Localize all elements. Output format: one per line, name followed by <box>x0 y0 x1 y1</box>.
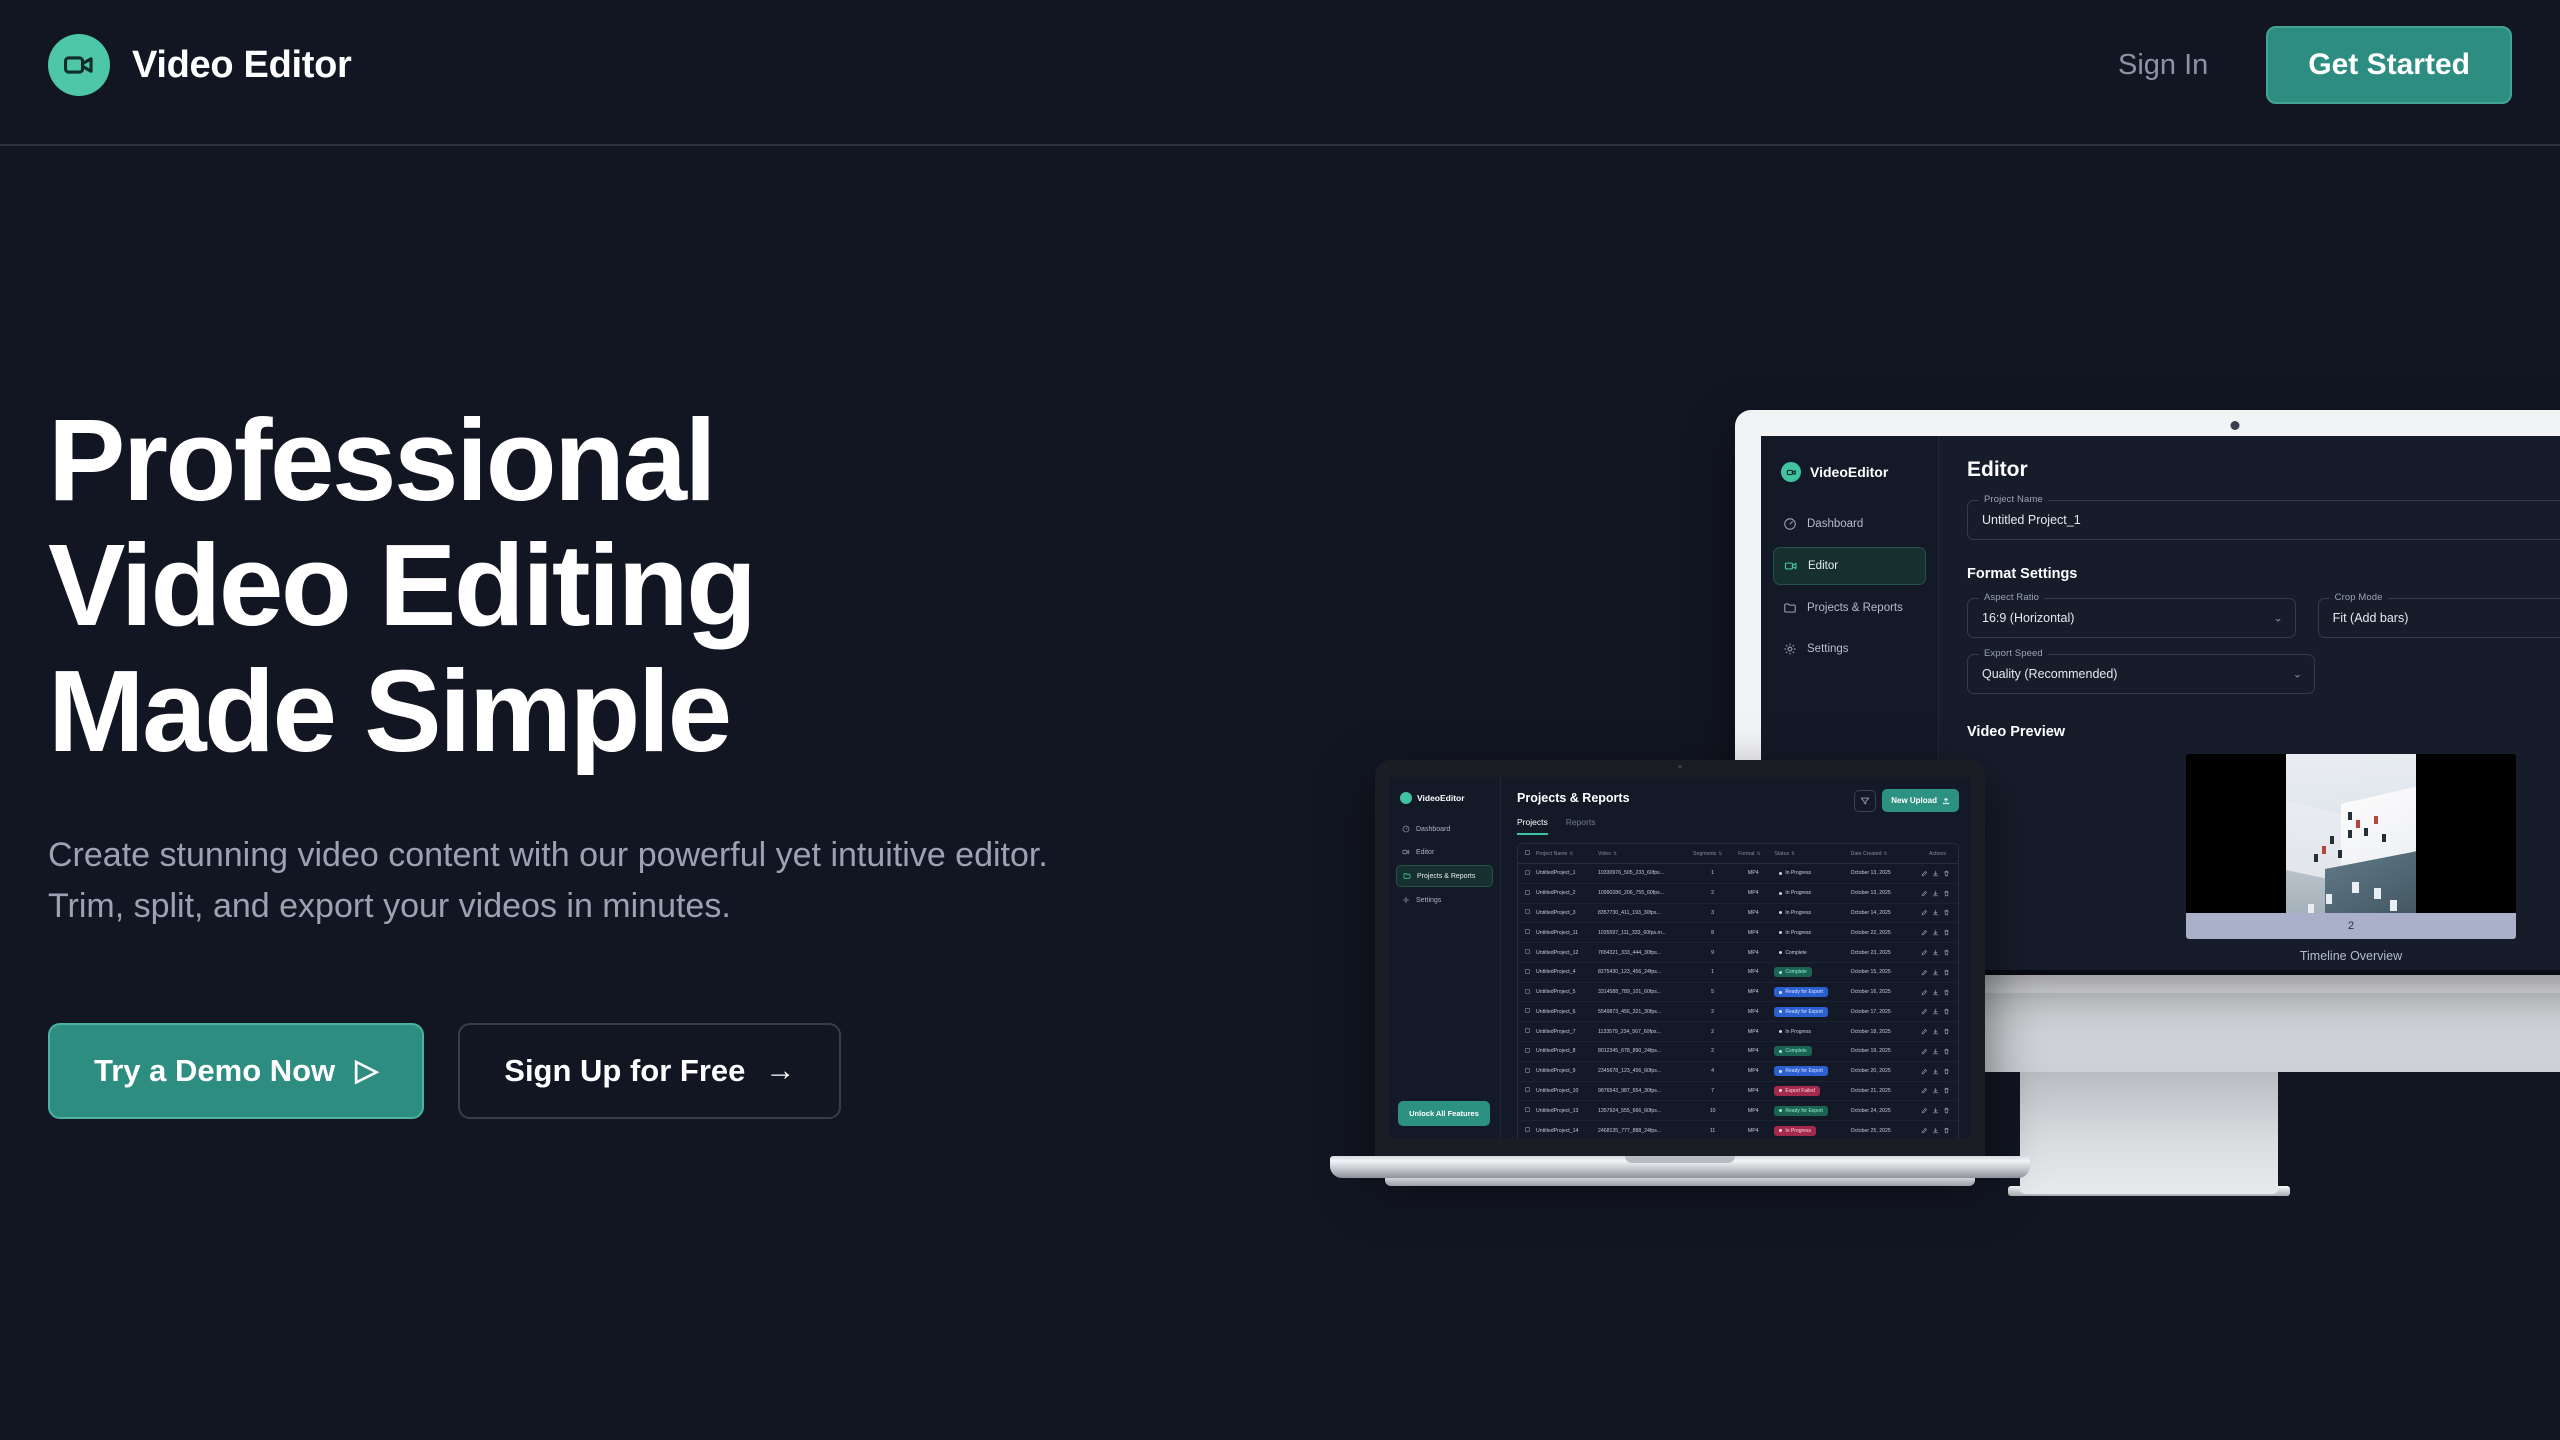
status-badge: Complete <box>1774 948 1811 958</box>
product-mockup: VideoEditor Dashboard <box>1330 380 2560 1300</box>
cell-format: MP4 <box>1735 903 1771 923</box>
new-upload-button[interactable]: New Upload <box>1882 789 1959 812</box>
status-badge: Complete <box>1774 1046 1811 1056</box>
upload-icon <box>1942 797 1950 805</box>
sidebar-label: Settings <box>1807 643 1849 655</box>
new-upload-label: New Upload <box>1891 796 1937 805</box>
cell-video: 8357730_411_193_30fps... <box>1595 903 1690 923</box>
play-icon: ▷ <box>355 1056 378 1086</box>
sort-icon: ⇅ <box>1569 851 1573 856</box>
download-icon[interactable] <box>1932 909 1939 916</box>
cell-date-created: October 15, 2025 <box>1848 962 1907 982</box>
table-row[interactable]: UntitledProject_109876543_987_654_30fps.… <box>1518 1081 1958 1101</box>
landing-page: Video Editor Sign In Get Started Profess… <box>0 0 2560 1440</box>
cell-actions <box>1907 982 1958 1002</box>
cell-format: MP4 <box>1735 1061 1771 1081</box>
cell-date-created: October 16, 2025 <box>1848 982 1907 1002</box>
page-title: Professional Video Editing Made Simple <box>48 398 1048 774</box>
table-row[interactable]: UntitledProject_71133579_234_567_60fps..… <box>1518 1022 1958 1042</box>
cell-segments: 10 <box>1690 1101 1735 1121</box>
delete-icon[interactable] <box>1943 969 1950 976</box>
sort-icon: ⇅ <box>1718 851 1722 856</box>
cell-format: MP4 <box>1735 864 1771 884</box>
edit-icon[interactable] <box>1921 890 1928 897</box>
sidebar-label: Projects & Reports <box>1807 602 1903 614</box>
table-row[interactable]: UntitledProject_131357924_555_666_60fps.… <box>1518 1101 1958 1121</box>
cell-project-name: UntitledProject_14 <box>1533 1121 1595 1138</box>
edit-icon[interactable] <box>1921 929 1928 936</box>
row-checkbox[interactable] <box>1518 1121 1533 1138</box>
delete-icon[interactable] <box>1943 870 1950 877</box>
cell-video: 10990286_206_755_60fps... <box>1595 883 1690 903</box>
edit-icon[interactable] <box>1921 1127 1928 1134</box>
projects-toolbar: New Upload <box>1854 789 1959 812</box>
edit-icon[interactable] <box>1921 1087 1928 1094</box>
tab-reports[interactable]: Reports <box>1566 817 1596 835</box>
cell-date-created: October 25, 2025 <box>1848 1121 1907 1138</box>
cell-status: In Progress <box>1771 923 1847 943</box>
cell-segments: 2 <box>1690 1022 1735 1042</box>
download-icon[interactable] <box>1932 929 1939 936</box>
cell-segments: 1 <box>1690 962 1735 982</box>
cell-date-created: October 21, 2025 <box>1848 1081 1907 1101</box>
table-row[interactable]: UntitledProject_48275430_123_456_24fps..… <box>1518 962 1958 982</box>
laptop-device: VideoEditor Dashboard <box>1330 760 2030 1205</box>
status-badge: In Progress <box>1774 888 1816 898</box>
col-segments[interactable]: Segments⇅ <box>1690 844 1735 864</box>
row-checkbox[interactable] <box>1518 1042 1533 1062</box>
checkbox-icon[interactable] <box>1525 1008 1530 1013</box>
edit-icon[interactable] <box>1921 870 1928 877</box>
cell-actions <box>1907 1121 1958 1138</box>
gauge-icon <box>1402 825 1410 833</box>
laptop-lid: VideoEditor Dashboard <box>1375 760 1985 1160</box>
table-row[interactable]: UntitledProject_65549873_456_321_30fps..… <box>1518 1002 1958 1022</box>
status-badge: In Progress <box>1774 868 1816 878</box>
sidebar-item-projects-reports[interactable]: Projects & Reports <box>1396 865 1493 887</box>
delete-icon[interactable] <box>1943 1127 1950 1134</box>
cell-format: MP4 <box>1735 1022 1771 1042</box>
video-preview-player[interactable]: 2 <box>2186 754 2516 939</box>
edit-icon[interactable] <box>1921 909 1928 916</box>
cell-segments: 4 <box>1690 1061 1735 1081</box>
cell-format: MP4 <box>1735 923 1771 943</box>
format-settings-row-1: Aspect Ratio 16:9 (Horizontal) ⌄ Crop Mo… <box>1967 598 2560 638</box>
laptop-base-notch <box>1625 1156 1735 1163</box>
heading-line-2: Video Editing <box>48 523 1048 648</box>
cell-video: 1357924_555_666_60fps... <box>1595 1101 1690 1121</box>
cell-video: 1035597_111_333_60fps.m... <box>1595 923 1690 943</box>
col-select-all[interactable] <box>1518 844 1533 864</box>
col-video[interactable]: Video⇅ <box>1595 844 1690 864</box>
cell-status: Ready for Export <box>1771 1061 1847 1081</box>
download-icon[interactable] <box>1932 870 1939 877</box>
col-status[interactable]: Status⇅ <box>1771 844 1847 864</box>
hero-cta-row: Try a Demo Now ▷ Sign Up for Free → <box>48 1023 1048 1119</box>
cell-project-name: UntitledProject_10 <box>1533 1081 1595 1101</box>
sort-icon: ⇅ <box>1884 851 1888 856</box>
editor-main: Editor Save Exp Project Name Untitled Pr… <box>1939 436 2560 970</box>
filter-icon[interactable] <box>1854 790 1876 812</box>
cell-video: 2468135_777_888_24fps... <box>1595 1121 1690 1138</box>
cell-project-name: UntitledProject_13 <box>1533 1101 1595 1121</box>
delete-icon[interactable] <box>1943 909 1950 916</box>
cell-format: MP4 <box>1735 1121 1771 1138</box>
cell-date-created: October 17, 2025 <box>1848 1002 1907 1022</box>
checkbox-icon[interactable] <box>1525 1107 1530 1112</box>
table-row[interactable]: UntitledProject_210990286_206_755_60fps.… <box>1518 883 1958 903</box>
edit-icon[interactable] <box>1921 1028 1928 1035</box>
laptop-camera-icon <box>1679 765 1682 768</box>
aspect-ratio-select[interactable]: Aspect Ratio 16:9 (Horizontal) ⌄ <box>1967 598 2296 638</box>
video-camera-icon <box>1784 559 1798 573</box>
sidebar-item-editor[interactable]: Editor <box>1773 547 1926 585</box>
header-actions: Sign In Get Started <box>2114 26 2512 104</box>
delete-icon[interactable] <box>1943 949 1950 956</box>
unlock-all-features-button[interactable]: Unlock All Features <box>1398 1101 1490 1126</box>
cell-format: MP4 <box>1735 1101 1771 1121</box>
cell-segments: 1 <box>1690 864 1735 884</box>
cell-status: Complete <box>1771 962 1847 982</box>
brand-logo[interactable]: Video Editor <box>48 34 352 96</box>
editor-page-title: Editor <box>1967 458 2560 482</box>
col-actions: Actions <box>1907 844 1958 864</box>
site-header: Video Editor Sign In Get Started <box>0 0 2560 146</box>
download-icon[interactable] <box>1932 1008 1939 1015</box>
cell-segments: 2 <box>1690 883 1735 903</box>
table-row[interactable]: UntitledProject_92345678_123_456_60fps..… <box>1518 1061 1958 1081</box>
export-speed-select[interactable]: Export Speed Quality (Recommended) ⌄ <box>1967 654 2315 694</box>
projects-table-body: UntitledProject_110330976_505_233_60fps.… <box>1518 864 1958 1139</box>
sidebar-label: Editor <box>1808 560 1838 572</box>
sign-up-label: Sign Up for Free <box>504 1053 745 1089</box>
cell-status: In Progress <box>1771 1022 1847 1042</box>
edit-icon[interactable] <box>1921 1107 1928 1114</box>
row-checkbox[interactable] <box>1518 982 1533 1002</box>
col-project-name[interactable]: Project Name⇅ <box>1533 844 1595 864</box>
row-checkbox[interactable] <box>1518 1022 1533 1042</box>
delete-icon[interactable] <box>1943 929 1950 936</box>
cell-status: Export Failed <box>1771 1081 1847 1101</box>
cell-date-created: October 14, 2025 <box>1848 903 1907 923</box>
row-checkbox[interactable] <box>1518 903 1533 923</box>
row-checkbox[interactable] <box>1518 1061 1533 1081</box>
row-checkbox[interactable] <box>1518 1002 1533 1022</box>
sidebar-label: Projects & Reports <box>1417 873 1475 880</box>
cell-segments: 11 <box>1690 1121 1735 1138</box>
edit-icon[interactable] <box>1921 949 1928 956</box>
cell-actions <box>1907 923 1958 943</box>
cell-format: MP4 <box>1735 982 1771 1002</box>
folder-icon <box>1783 601 1797 615</box>
cell-segments: 7 <box>1690 1081 1735 1101</box>
cell-video: 10330976_505_233_60fps... <box>1595 864 1690 884</box>
cell-project-name: UntitledProject_9 <box>1533 1061 1595 1081</box>
row-checkbox[interactable] <box>1518 923 1533 943</box>
table-row[interactable]: UntitledProject_88012345_678_890_24fps..… <box>1518 1042 1958 1062</box>
row-checkbox[interactable] <box>1518 943 1533 963</box>
sidebar-item-dashboard[interactable]: Dashboard <box>1396 819 1493 839</box>
crop-mode-select[interactable]: Crop Mode Fit (Add bars) ⌄ <box>2318 598 2560 638</box>
cell-actions <box>1907 903 1958 923</box>
cell-project-name: UntitledProject_4 <box>1533 962 1595 982</box>
checkbox-icon[interactable] <box>1525 969 1530 974</box>
heading-line-1: Professional <box>48 398 1048 523</box>
cell-segments: 5 <box>1690 982 1735 1002</box>
edit-icon[interactable] <box>1921 989 1928 996</box>
delete-icon[interactable] <box>1943 989 1950 996</box>
sidebar-item-editor[interactable]: Editor <box>1396 842 1493 862</box>
table-row[interactable]: UntitledProject_142468135_777_888_24fps.… <box>1518 1121 1958 1138</box>
cell-segments: 2 <box>1690 1002 1735 1022</box>
table-row[interactable]: UntitledProject_110330976_505_233_60fps.… <box>1518 864 1958 884</box>
table-row[interactable]: UntitledProject_53314588_789_101_60fps..… <box>1518 982 1958 1002</box>
cell-video: 1133579_234_567_60fps... <box>1595 1022 1690 1042</box>
projects-app-logo: VideoEditor <box>1389 777 1500 804</box>
delete-icon[interactable] <box>1943 1028 1950 1035</box>
table-row[interactable]: UntitledProject_111035597_111_333_60fps.… <box>1518 923 1958 943</box>
cell-project-name: UntitledProject_8 <box>1533 1042 1595 1062</box>
checkbox-icon[interactable] <box>1525 1048 1530 1053</box>
status-badge: In Progress <box>1774 928 1816 938</box>
col-format[interactable]: Format⇅ <box>1735 844 1771 864</box>
cell-video: 2345678_123_456_60fps... <box>1595 1061 1690 1081</box>
project-name-label: Project Name <box>1979 494 2048 505</box>
format-settings-row-2: Export Speed Quality (Recommended) ⌄ <box>1967 654 2315 694</box>
timeline-bar[interactable]: 2 <box>2186 913 2516 939</box>
row-checkbox[interactable] <box>1518 1081 1533 1101</box>
crop-mode-label: Crop Mode <box>2330 592 2388 603</box>
cell-date-created: October 23, 2025 <box>1848 943 1907 963</box>
cell-date-created: October 19, 2025 <box>1848 1042 1907 1062</box>
sidebar-label: Dashboard <box>1416 826 1450 833</box>
table-row[interactable]: UntitledProject_38357730_411_193_30fps..… <box>1518 903 1958 923</box>
checkbox-icon[interactable] <box>1525 870 1530 875</box>
cell-segments: 9 <box>1690 943 1735 963</box>
download-icon[interactable] <box>1932 969 1939 976</box>
checkbox-icon[interactable] <box>1525 1127 1530 1132</box>
aspect-ratio-value: 16:9 (Horizontal) <box>1982 611 2074 625</box>
aspect-ratio-label: Aspect Ratio <box>1979 592 2044 603</box>
video-preview-title: Video Preview <box>1967 724 2065 740</box>
cell-status: Complete <box>1771 943 1847 963</box>
projects-table-wrapper: Project Name⇅ Video⇅ Segments⇅ Format⇅ S… <box>1517 843 1959 1138</box>
cell-status: Complete <box>1771 1042 1847 1062</box>
cell-actions <box>1907 1081 1958 1101</box>
try-demo-label: Try a Demo Now <box>94 1053 335 1089</box>
projects-table: Project Name⇅ Video⇅ Segments⇅ Format⇅ S… <box>1518 844 1958 1138</box>
status-badge: In Progress <box>1774 908 1816 918</box>
cell-date-created: October 18, 2025 <box>1848 1022 1907 1042</box>
projects-sidebar: VideoEditor Dashboard <box>1389 777 1501 1138</box>
project-name-field[interactable]: Project Name Untitled Project_1 <box>1967 500 2560 540</box>
cell-date-created: October 13, 2025 <box>1848 883 1907 903</box>
try-demo-button[interactable]: Try a Demo Now ▷ <box>48 1023 424 1119</box>
cell-format: MP4 <box>1735 1042 1771 1062</box>
delete-icon[interactable] <box>1943 1048 1950 1055</box>
timeline-overview-label: Timeline Overview <box>1967 949 2560 963</box>
projects-main: Projects & Reports New Upload <box>1501 777 1971 1138</box>
checkbox-icon[interactable] <box>1525 949 1530 954</box>
cell-actions <box>1907 1061 1958 1081</box>
projects-app-screen: VideoEditor Dashboard <box>1389 777 1971 1138</box>
checkbox-icon[interactable] <box>1525 1028 1530 1033</box>
checkbox-icon[interactable] <box>1525 989 1530 994</box>
edit-icon[interactable] <box>1921 1008 1928 1015</box>
edit-icon[interactable] <box>1921 1048 1928 1055</box>
sidebar-item-projects-reports[interactable]: Projects & Reports <box>1773 590 1926 626</box>
sort-icon: ⇅ <box>1613 851 1617 856</box>
status-badge: In Progress <box>1774 1027 1816 1037</box>
hero-subtitle: Create stunning video content with our p… <box>48 830 1128 933</box>
checkbox-icon[interactable] <box>1525 1087 1530 1092</box>
get-started-button[interactable]: Get Started <box>2266 26 2512 104</box>
cell-actions <box>1907 883 1958 903</box>
project-name-value: Untitled Project_1 <box>1982 513 2081 527</box>
video-camera-icon <box>1402 848 1410 856</box>
sidebar-label: Dashboard <box>1807 518 1863 530</box>
delete-icon[interactable] <box>1943 1087 1950 1094</box>
sidebar-item-settings[interactable]: Settings <box>1396 890 1493 910</box>
download-icon[interactable] <box>1932 1087 1939 1094</box>
cell-format: MP4 <box>1735 1081 1771 1101</box>
row-checkbox[interactable] <box>1518 864 1533 884</box>
cell-project-name: UntitledProject_12 <box>1533 943 1595 963</box>
cell-project-name: UntitledProject_5 <box>1533 982 1595 1002</box>
edit-icon[interactable] <box>1921 1068 1928 1075</box>
laptop-notch <box>1624 760 1736 773</box>
cell-status: Ready for Export <box>1771 1101 1847 1121</box>
cell-segments: 3 <box>1690 903 1735 923</box>
download-icon[interactable] <box>1932 1048 1939 1055</box>
download-icon[interactable] <box>1932 949 1939 956</box>
delete-icon[interactable] <box>1943 1068 1950 1075</box>
delete-icon[interactable] <box>1943 890 1950 897</box>
crop-mode-value: Fit (Add bars) <box>2333 611 2409 625</box>
download-icon[interactable] <box>1932 1127 1939 1134</box>
download-icon[interactable] <box>1932 1028 1939 1035</box>
chevron-down-icon: ⌄ <box>2293 668 2302 681</box>
checkbox-icon[interactable] <box>1525 929 1530 934</box>
cell-format: MP4 <box>1735 883 1771 903</box>
sidebar-item-dashboard[interactable]: Dashboard <box>1773 506 1926 542</box>
cell-format: MP4 <box>1735 962 1771 982</box>
checkbox-icon[interactable] <box>1525 890 1530 895</box>
cell-actions <box>1907 1002 1958 1022</box>
cell-segments: 2 <box>1690 1042 1735 1062</box>
delete-icon[interactable] <box>1943 1008 1950 1015</box>
status-badge: Complete <box>1774 967 1811 977</box>
cell-project-name: UntitledProject_2 <box>1533 883 1595 903</box>
laptop-foot <box>1385 1178 1975 1186</box>
cell-actions <box>1907 943 1958 963</box>
download-icon[interactable] <box>1932 1107 1939 1114</box>
cell-video: 3314588_789_101_60fps... <box>1595 982 1690 1002</box>
cell-status: Ready for Export <box>1771 982 1847 1002</box>
cell-actions <box>1907 864 1958 884</box>
delete-icon[interactable] <box>1943 1107 1950 1114</box>
status-badge: In Progress <box>1774 1126 1816 1136</box>
cell-segments: 8 <box>1690 923 1735 943</box>
gauge-icon <box>1783 517 1797 531</box>
download-icon[interactable] <box>1932 1068 1939 1075</box>
sidebar-label: Editor <box>1416 849 1434 856</box>
cell-video: 9876543_987_654_30fps... <box>1595 1081 1690 1101</box>
col-date-created[interactable]: Date Created⇅ <box>1848 844 1907 864</box>
cell-date-created: October 13, 2025 <box>1848 864 1907 884</box>
status-badge: Ready for Export <box>1774 1007 1828 1017</box>
row-checkbox[interactable] <box>1518 1101 1533 1121</box>
checkbox-icon[interactable] <box>1525 1068 1530 1073</box>
video-preview-header: Video Preview Video player size <box>1967 724 2560 740</box>
cell-format: MP4 <box>1735 1002 1771 1022</box>
cell-video: 8275430_123_456_24fps... <box>1595 962 1690 982</box>
sign-in-link[interactable]: Sign In <box>2114 37 2212 94</box>
export-speed-value: Quality (Recommended) <box>1982 667 2117 681</box>
cell-date-created: October 22, 2025 <box>1848 923 1907 943</box>
cell-status: In Progress <box>1771 903 1847 923</box>
arrow-right-icon: → <box>765 1056 795 1086</box>
cell-project-name: UntitledProject_3 <box>1533 903 1595 923</box>
cell-project-name: UntitledProject_6 <box>1533 1002 1595 1022</box>
cell-status: In Progress <box>1771 1121 1847 1138</box>
row-checkbox[interactable] <box>1518 883 1533 903</box>
brand-name: Video Editor <box>132 44 352 87</box>
cell-status: In Progress <box>1771 864 1847 884</box>
editor-app-logo: VideoEditor <box>1761 436 1938 482</box>
checkbox-icon[interactable] <box>1525 850 1530 855</box>
sign-up-button[interactable]: Sign Up for Free → <box>458 1023 841 1119</box>
cell-format: MP4 <box>1735 943 1771 963</box>
status-badge: Ready for Export <box>1774 1106 1828 1116</box>
cell-video: 8012345_678_890_24fps... <box>1595 1042 1690 1062</box>
cell-status: Ready for Export <box>1771 1002 1847 1022</box>
video-camera-icon <box>1400 792 1412 804</box>
cell-video: 5549873_456_321_30fps... <box>1595 1002 1690 1022</box>
status-badge: Export Failed <box>1774 1086 1819 1096</box>
cell-project-name: UntitledProject_7 <box>1533 1022 1595 1042</box>
status-badge: Ready for Export <box>1774 1066 1828 1076</box>
sidebar-label: Settings <box>1416 897 1441 904</box>
download-icon[interactable] <box>1932 890 1939 897</box>
table-header-row: Project Name⇅ Video⇅ Segments⇅ Format⇅ S… <box>1518 844 1958 864</box>
video-camera-icon <box>1781 462 1801 482</box>
checkbox-icon[interactable] <box>1525 909 1530 914</box>
editor-app-name: VideoEditor <box>1810 464 1888 480</box>
preview-building-photo <box>2286 754 2416 939</box>
editor-nav: Dashboard Editor Projects <box>1761 506 1938 667</box>
row-checkbox[interactable] <box>1518 962 1533 982</box>
cell-status: In Progress <box>1771 883 1847 903</box>
cell-date-created: October 24, 2025 <box>1848 1101 1907 1121</box>
cell-actions <box>1907 1022 1958 1042</box>
format-settings-title: Format Settings <box>1967 566 2560 582</box>
hero-section: Professional Video Editing Made Simple C… <box>48 398 1048 1119</box>
download-icon[interactable] <box>1932 989 1939 996</box>
gear-icon <box>1783 642 1797 656</box>
tab-projects[interactable]: Projects <box>1517 817 1548 835</box>
sidebar-item-settings[interactable]: Settings <box>1773 631 1926 667</box>
sort-icon: ⇅ <box>1757 851 1761 856</box>
folder-icon <box>1403 872 1411 880</box>
cell-actions <box>1907 962 1958 982</box>
projects-nav: Dashboard Editor <box>1389 819 1500 910</box>
edit-icon[interactable] <box>1921 969 1928 976</box>
cell-actions <box>1907 1042 1958 1062</box>
table-row[interactable]: UntitledProject_127654321_333_444_30fps.… <box>1518 943 1958 963</box>
cell-video: 7654321_333_444_30fps... <box>1595 943 1690 963</box>
cell-project-name: UntitledProject_1 <box>1533 864 1595 884</box>
